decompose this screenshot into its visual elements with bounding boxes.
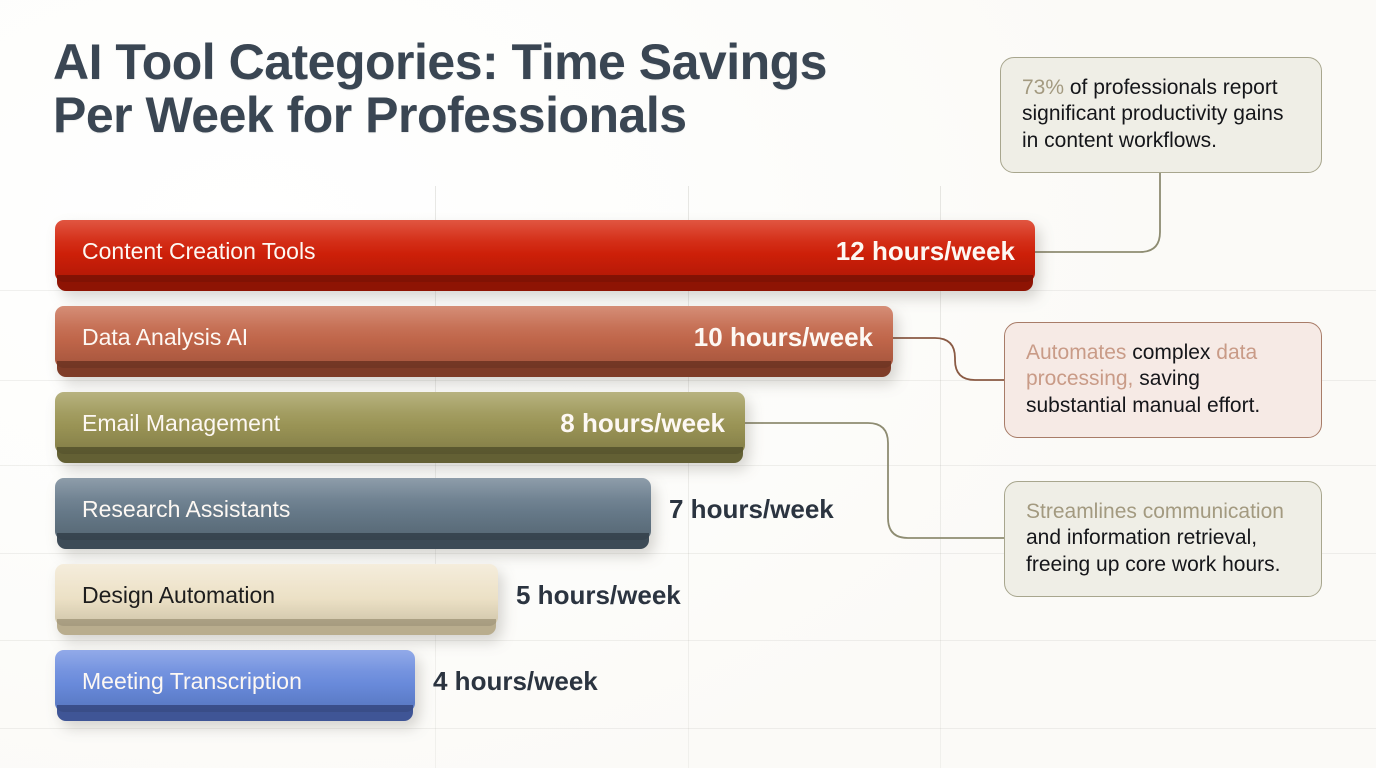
bar-label: Meeting Transcription (82, 668, 302, 695)
bar-label: Data Analysis AI (82, 324, 248, 351)
bar-value-label: 7 hours/week (669, 494, 834, 525)
callout-content-creation[interactable]: 73% of professionals report significant … (1000, 57, 1322, 173)
bar-row[interactable]: Design Automation 5 hours/week (55, 564, 681, 626)
bar-value-label: 10 hours/week (694, 322, 873, 353)
bar-meeting-transcription[interactable]: Meeting Transcription (55, 650, 415, 712)
bar-row[interactable]: Content Creation Tools 12 hours/week (55, 220, 1035, 282)
chart-title: AI Tool Categories: Time Savings Per Wee… (53, 36, 873, 142)
chart-canvas: AI Tool Categories: Time Savings Per Wee… (0, 0, 1376, 768)
gridline-horizontal (0, 728, 1376, 729)
connector-content-creation (1035, 172, 1160, 252)
callout-data-analysis[interactable]: Automates complex data processing, savin… (1004, 322, 1322, 438)
gridline-horizontal (0, 465, 1376, 466)
connector-data-analysis (893, 338, 1004, 380)
chart-title-line1: AI Tool Categories: Time Savings (53, 34, 827, 90)
bar-data-analysis-ai[interactable]: Data Analysis AI 10 hours/week (55, 306, 893, 368)
gridline-horizontal (0, 640, 1376, 641)
bar-value-label: 5 hours/week (516, 580, 681, 611)
chart-title-line2: Per Week for Professionals (53, 89, 873, 142)
bar-row[interactable]: Email Management 8 hours/week (55, 392, 745, 454)
bar-label: Email Management (82, 410, 280, 437)
bar-row[interactable]: Research Assistants 7 hours/week (55, 478, 834, 540)
bar-email-management[interactable]: Email Management 8 hours/week (55, 392, 745, 454)
callout-text: and information retrieval, freeing up co… (1026, 526, 1280, 575)
bar-row[interactable]: Data Analysis AI 10 hours/week (55, 306, 893, 368)
bar-label: Content Creation Tools (82, 238, 316, 265)
callout-highlight: 73% (1022, 76, 1064, 99)
callout-highlight: Streamlines communication (1026, 500, 1284, 523)
bar-label: Research Assistants (82, 496, 290, 523)
bar-research-assistants[interactable]: Research Assistants (55, 478, 651, 540)
callout-text-mid: complex (1126, 341, 1216, 364)
bar-design-automation[interactable]: Design Automation (55, 564, 498, 626)
callout-email-management[interactable]: Streamlines communication and informatio… (1004, 481, 1322, 597)
bar-value-label: 4 hours/week (433, 666, 598, 697)
callout-highlight: Automates (1026, 341, 1126, 364)
bar-value-label: 12 hours/week (836, 236, 1015, 267)
bar-label: Design Automation (82, 582, 275, 609)
bar-row[interactable]: Meeting Transcription 4 hours/week (55, 650, 598, 712)
bar-value-label: 8 hours/week (560, 408, 725, 439)
bar-content-creation-tools[interactable]: Content Creation Tools 12 hours/week (55, 220, 1035, 282)
